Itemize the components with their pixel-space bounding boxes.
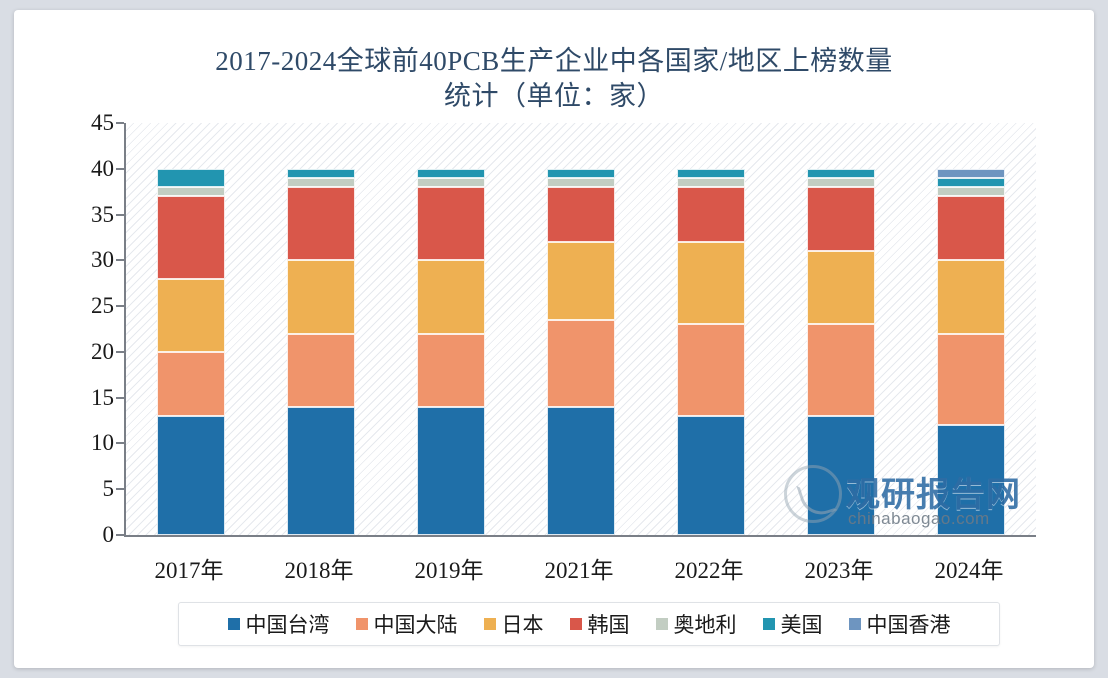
- bar-segment[interactable]: [157, 279, 225, 352]
- x-axis-tick-label: 2019年: [389, 551, 509, 585]
- bar-segment[interactable]: [417, 334, 485, 407]
- bar-segment[interactable]: [547, 178, 615, 187]
- y-axis-tick-label: 45: [62, 110, 114, 136]
- bar-segment[interactable]: [547, 407, 615, 535]
- y-axis-tick-label: 30: [62, 247, 114, 273]
- legend-swatch-icon: [656, 618, 668, 630]
- legend-item[interactable]: 日本: [484, 609, 544, 639]
- legend-swatch-icon: [570, 618, 582, 630]
- bar-segment[interactable]: [157, 352, 225, 416]
- bar-segment[interactable]: [287, 407, 355, 535]
- legend-swatch-icon: [849, 618, 861, 630]
- bar-segment[interactable]: [547, 242, 615, 320]
- bar-segment[interactable]: [287, 187, 355, 260]
- legend-item[interactable]: 中国香港: [849, 609, 951, 639]
- x-axis-tick-label: 2022年: [649, 551, 769, 585]
- bar-segment[interactable]: [417, 178, 485, 187]
- bar-segment[interactable]: [807, 169, 875, 178]
- legend-item[interactable]: 奥地利: [656, 609, 737, 639]
- y-axis-tick-mark: [116, 442, 124, 444]
- y-axis-tick-label: 35: [62, 202, 114, 228]
- y-axis-tick-label: 20: [62, 339, 114, 365]
- bar-segment[interactable]: [677, 178, 745, 187]
- x-axis-tick-label: 2021年: [519, 551, 639, 585]
- chart-title-line-1: 2017-2024全球前40PCB生产企业中各国家/地区上榜数量: [215, 46, 893, 76]
- plot-area: [124, 123, 1036, 537]
- y-axis-tick-label: 15: [62, 385, 114, 411]
- bar-segment[interactable]: [807, 178, 875, 187]
- chart-card: 2017-2024全球前40PCB生产企业中各国家/地区上榜数量 统计（单位：家…: [14, 10, 1094, 668]
- legend-item[interactable]: 中国大陆: [356, 609, 458, 639]
- y-axis-tick-mark: [116, 122, 124, 124]
- bar-segment[interactable]: [547, 320, 615, 407]
- bar-segment[interactable]: [157, 169, 225, 187]
- bar-segment[interactable]: [937, 425, 1005, 535]
- bar-segment[interactable]: [287, 169, 355, 178]
- bar-segment[interactable]: [937, 169, 1005, 178]
- chart-title-line-2: 统计（单位：家）: [74, 79, 1034, 114]
- y-axis-tick-label: 5: [62, 476, 114, 502]
- bar-segment[interactable]: [937, 334, 1005, 426]
- bar-segment[interactable]: [417, 260, 485, 333]
- bar-segment[interactable]: [677, 416, 745, 535]
- bar-segment[interactable]: [807, 324, 875, 416]
- stacked-bar[interactable]: [677, 123, 745, 535]
- x-axis-tick-label: 2024年: [909, 551, 1029, 585]
- bar-segment[interactable]: [937, 196, 1005, 260]
- bar-segment[interactable]: [547, 187, 615, 242]
- bar-segment[interactable]: [547, 169, 615, 178]
- bar-segment[interactable]: [937, 178, 1005, 187]
- bar-segment[interactable]: [677, 169, 745, 178]
- stacked-bar[interactable]: [807, 123, 875, 535]
- legend-item-label: 中国台湾: [246, 609, 330, 639]
- legend-item-label: 奥地利: [674, 609, 737, 639]
- bar-segment[interactable]: [677, 324, 745, 416]
- legend-item[interactable]: 美国: [763, 609, 823, 639]
- y-axis-tick-mark: [116, 214, 124, 216]
- bar-segment[interactable]: [417, 407, 485, 535]
- bar-segment[interactable]: [807, 416, 875, 535]
- legend-swatch-icon: [356, 618, 368, 630]
- y-axis-tick-mark: [116, 488, 124, 490]
- y-axis-tick-mark: [116, 351, 124, 353]
- legend-swatch-icon: [484, 618, 496, 630]
- stacked-bar[interactable]: [417, 123, 485, 535]
- y-axis-tick-mark: [116, 305, 124, 307]
- legend-item-label: 中国香港: [867, 609, 951, 639]
- legend-swatch-icon: [228, 618, 240, 630]
- y-axis-tick-mark: [116, 259, 124, 261]
- bar-segment[interactable]: [157, 187, 225, 196]
- legend-item-label: 日本: [502, 609, 544, 639]
- bar-segment[interactable]: [287, 260, 355, 333]
- bar-segment[interactable]: [417, 187, 485, 260]
- chart-title: 2017-2024全球前40PCB生产企业中各国家/地区上榜数量 统计（单位：家…: [74, 44, 1034, 114]
- y-axis-tick-mark: [116, 534, 124, 536]
- y-axis-tick-label: 25: [62, 293, 114, 319]
- bar-segment[interactable]: [677, 187, 745, 242]
- legend-item-label: 美国: [781, 609, 823, 639]
- bar-segment[interactable]: [937, 260, 1005, 333]
- bar-segment[interactable]: [287, 334, 355, 407]
- y-axis-tick-mark: [116, 168, 124, 170]
- legend-swatch-icon: [763, 618, 775, 630]
- stacked-bar[interactable]: [547, 123, 615, 535]
- x-axis-tick-label: 2017年: [129, 551, 249, 585]
- bar-segment[interactable]: [807, 187, 875, 251]
- bar-segment[interactable]: [287, 178, 355, 187]
- bar-segment[interactable]: [937, 187, 1005, 196]
- bar-segment[interactable]: [157, 196, 225, 278]
- bar-segment[interactable]: [417, 169, 485, 178]
- bar-segment[interactable]: [157, 416, 225, 535]
- y-axis-tick-label: 10: [62, 430, 114, 456]
- legend-item-label: 韩国: [588, 609, 630, 639]
- legend-item-label: 中国大陆: [374, 609, 458, 639]
- legend-item[interactable]: 韩国: [570, 609, 630, 639]
- stacked-bar[interactable]: [937, 123, 1005, 535]
- x-axis-tick-label: 2018年: [259, 551, 379, 585]
- y-axis-tick-mark: [116, 397, 124, 399]
- stacked-bar[interactable]: [287, 123, 355, 535]
- y-axis-tick-label: 40: [62, 156, 114, 182]
- bar-segment[interactable]: [677, 242, 745, 324]
- y-axis-tick-label: 0: [62, 522, 114, 548]
- bar-segment[interactable]: [807, 251, 875, 324]
- chart-legend: 中国台湾中国大陆日本韩国奥地利美国中国香港: [178, 602, 1000, 646]
- legend-item[interactable]: 中国台湾: [228, 609, 330, 639]
- x-axis-tick-label: 2023年: [779, 551, 899, 585]
- stacked-bar[interactable]: [157, 123, 225, 535]
